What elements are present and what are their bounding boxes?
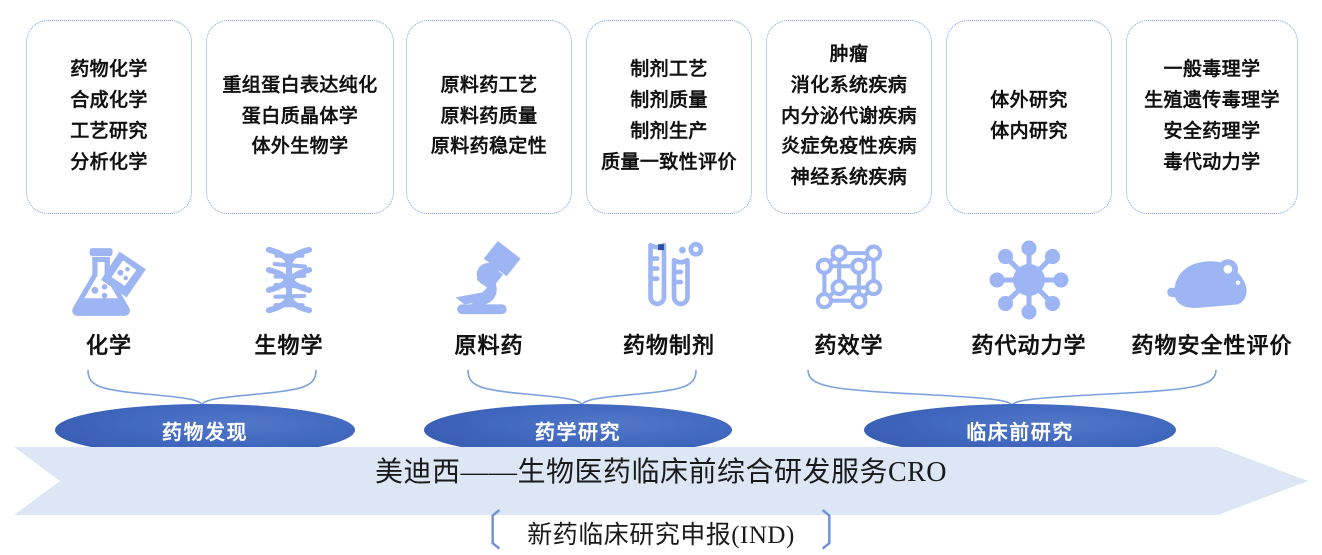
discipline-pharmacodynamics: 药效学 xyxy=(803,228,895,360)
capability-item: 生殖遗传毒理学 xyxy=(1144,86,1280,117)
capability-item: 一般毒理学 xyxy=(1163,55,1260,86)
phase-label: 临床前研究 xyxy=(966,416,1074,445)
flask-icon xyxy=(63,228,155,322)
molecule-grid-icon xyxy=(803,228,895,322)
brace-connector-discovery xyxy=(86,368,318,406)
capability-item: 安全药理学 xyxy=(1163,117,1260,148)
capability-box-chemistry: 药物化学 合成化学 工艺研究 分析化学 xyxy=(26,20,192,214)
capability-item: 体内研究 xyxy=(990,117,1068,148)
discipline-label: 药物安全性评价 xyxy=(1132,328,1293,360)
capability-item: 质量一致性评价 xyxy=(601,148,737,179)
brace-connector-preclinical xyxy=(806,368,1218,406)
discipline-chemistry: 化学 xyxy=(63,228,155,360)
brace-connector-pharmaceutics xyxy=(466,368,698,406)
bracket-right-icon: 〕 xyxy=(821,512,855,555)
capability-item: 神经系统疾病 xyxy=(791,163,907,194)
capability-box-pharmacodynamics: 肿瘤 消化系统疾病 内分泌代谢疾病 炎症免疫性疾病 神经系统疾病 xyxy=(766,20,932,214)
discipline-safety: 药物安全性评价 xyxy=(1166,228,1258,360)
capability-item: 体外生物学 xyxy=(251,132,348,163)
microscope-icon xyxy=(443,228,535,322)
infographic-canvas: 药物化学 合成化学 工艺研究 分析化学 重组蛋白表达纯化 蛋白质晶体学 体外生物… xyxy=(0,0,1322,555)
virus-node-icon xyxy=(983,228,1075,322)
capability-item: 毒代动力学 xyxy=(1163,148,1260,179)
test-tubes-icon xyxy=(623,228,715,322)
capability-item: 肿瘤 xyxy=(830,40,869,71)
discipline-label: 药效学 xyxy=(814,328,883,360)
capability-box-biology: 重组蛋白表达纯化 蛋白质晶体学 体外生物学 xyxy=(206,20,394,214)
ind-label: 新药临床研究申报(IND) xyxy=(527,515,795,551)
arrow-band-label: 美迪西——生物医药临床前综合研发服务CRO xyxy=(0,450,1322,490)
capability-box-formulation: 制剂工艺 制剂质量 制剂生产 质量一致性评价 xyxy=(586,20,752,214)
discipline-pharmacokinetics: 药代动力学 xyxy=(983,228,1075,360)
discipline-api: 原料药 xyxy=(443,228,535,360)
discipline-label: 生物学 xyxy=(254,328,323,360)
capability-item: 工艺研究 xyxy=(70,117,148,148)
capability-box-api: 原料药工艺 原料药质量 原料药稳定性 xyxy=(406,20,572,214)
capability-item: 炎症免疫性疾病 xyxy=(781,132,917,163)
capability-item: 制剂生产 xyxy=(630,117,708,148)
capability-box-safety: 一般毒理学 生殖遗传毒理学 安全药理学 毒代动力学 xyxy=(1126,20,1298,214)
discipline-label: 药代动力学 xyxy=(972,328,1087,360)
capability-item: 内分泌代谢疾病 xyxy=(781,102,917,133)
capability-box-pharmacokinetics: 体外研究 体内研究 xyxy=(946,20,1112,214)
capability-item: 体外研究 xyxy=(990,86,1068,117)
capability-item: 消化系统疾病 xyxy=(791,71,907,102)
discipline-label: 原料药 xyxy=(454,328,523,360)
phase-label: 药学研究 xyxy=(535,416,621,445)
discipline-label: 化学 xyxy=(86,328,132,360)
capability-item: 蛋白质晶体学 xyxy=(242,102,358,133)
bracket-left-icon: 〔 xyxy=(467,512,501,555)
ind-footer: 〔 新药临床研究申报(IND) 〕 xyxy=(0,515,1322,551)
discipline-label: 药物制剂 xyxy=(623,328,715,360)
discipline-formulation: 药物制剂 xyxy=(623,228,715,360)
capability-item: 分析化学 xyxy=(70,148,148,179)
discipline-biology: 生物学 xyxy=(243,228,335,360)
mouse-icon xyxy=(1166,228,1258,322)
capability-item: 重组蛋白表达纯化 xyxy=(222,71,377,102)
capability-item: 原料药稳定性 xyxy=(431,132,547,163)
dna-helix-icon xyxy=(243,228,335,322)
capability-item: 药物化学 xyxy=(70,55,148,86)
capability-item: 制剂质量 xyxy=(630,86,708,117)
capability-item: 原料药工艺 xyxy=(440,71,537,102)
capability-item: 制剂工艺 xyxy=(630,55,708,86)
phase-label: 药物发现 xyxy=(162,416,248,445)
capability-item: 合成化学 xyxy=(70,86,148,117)
capability-item: 原料药质量 xyxy=(440,102,537,133)
